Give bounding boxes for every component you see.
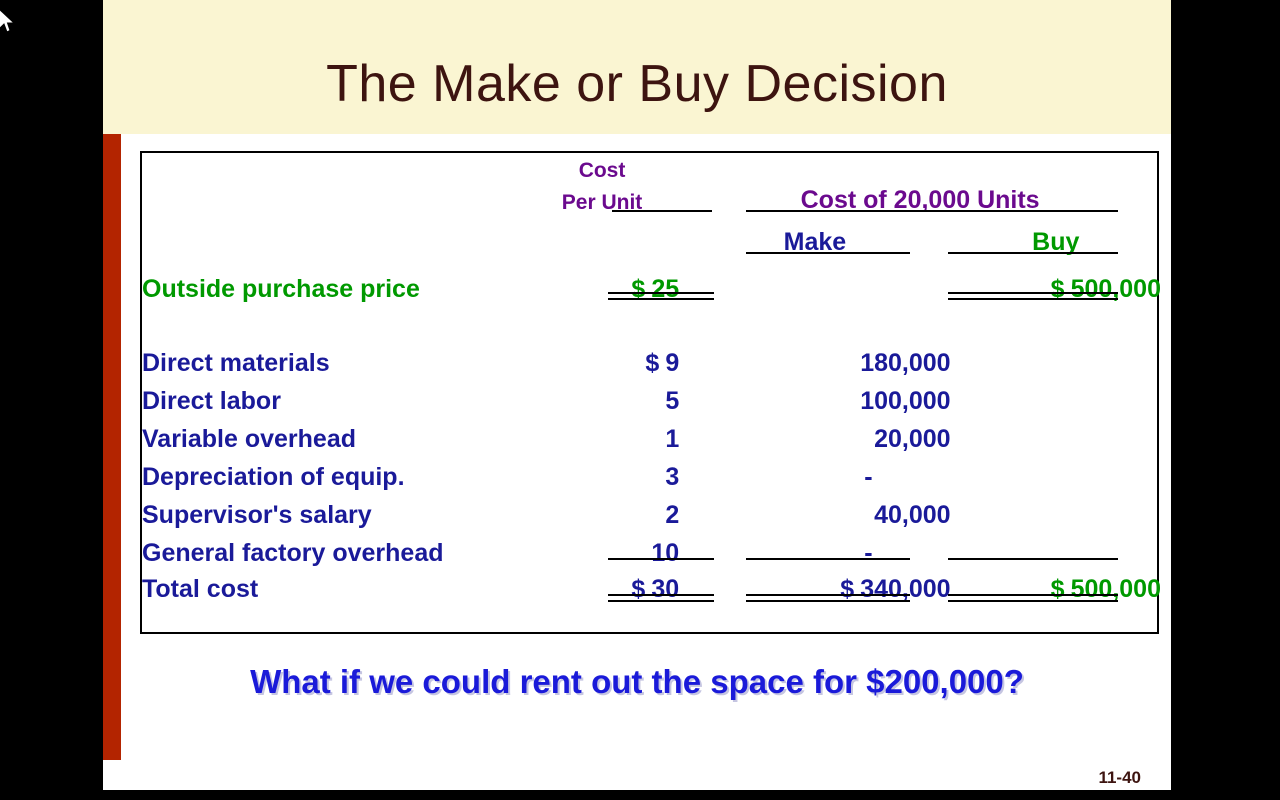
header-spacer-label xyxy=(142,153,525,183)
table-header-row-1: Cost xyxy=(142,153,1161,183)
per-unit-value: 5 xyxy=(665,387,679,415)
row-label: Variable overhead xyxy=(142,416,525,454)
question-text: What if we could rent out the space for … xyxy=(103,663,1171,701)
row-per-unit: 5 xyxy=(525,378,679,416)
rule-outside-purchase-buy xyxy=(948,292,1118,300)
per-unit-value: 10 xyxy=(651,539,679,567)
row-make: 40,000 xyxy=(679,492,950,530)
row-buy xyxy=(951,416,1161,454)
table-row: Direct labor 5 100,000 xyxy=(142,378,1161,416)
row-make: 180,000 xyxy=(679,340,950,378)
header-spacer-buy xyxy=(951,153,1161,183)
row-label: Outside purchase price xyxy=(142,257,525,304)
row-label: General factory overhead xyxy=(142,530,525,568)
rule-make-header xyxy=(746,252,910,254)
rule-cost-of-units-header xyxy=(746,210,1118,212)
spacer-cell xyxy=(951,304,1161,340)
screen-background: The Make or Buy Decision Cost xyxy=(0,0,1280,800)
table-spacer-row xyxy=(142,304,1161,340)
rule-total-top-make xyxy=(746,558,910,560)
row-label: Direct materials xyxy=(142,340,525,378)
header-spacer-label-3 xyxy=(142,215,525,257)
table-header-row-3: Make Buy xyxy=(142,215,1161,257)
rule-per-unit-header xyxy=(612,210,712,212)
row-make xyxy=(679,257,950,304)
row-buy xyxy=(951,340,1161,378)
per-unit-value: 9 xyxy=(665,349,679,377)
rule-buy-header xyxy=(948,252,1118,254)
per-unit-value: 1 xyxy=(665,425,679,453)
row-per-unit: $9 xyxy=(525,340,679,378)
rule-total-top-per-unit xyxy=(608,558,714,560)
rule-total-bottom-buy xyxy=(948,594,1118,602)
row-buy xyxy=(951,530,1161,568)
header-cost: Cost xyxy=(525,153,679,183)
header-spacer-make xyxy=(679,153,950,183)
rule-outside-purchase-per-unit xyxy=(608,292,714,300)
page-number: 11-40 xyxy=(1098,768,1141,788)
row-make: - xyxy=(679,454,950,492)
per-unit-value: 2 xyxy=(665,501,679,529)
slide-canvas: The Make or Buy Decision Cost xyxy=(103,0,1171,790)
cost-comparison-table: Cost Per Unit Cost of 20,000 Units xyxy=(140,151,1159,634)
row-buy xyxy=(951,492,1161,530)
table-row: General factory overhead 10 - xyxy=(142,530,1161,568)
row-per-unit: 2 xyxy=(525,492,679,530)
row-label: Supervisor's salary xyxy=(142,492,525,530)
row-label: Depreciation of equip. xyxy=(142,454,525,492)
row-label: Direct labor xyxy=(142,378,525,416)
spacer-cell xyxy=(679,304,950,340)
dollar-sign: $ xyxy=(645,349,665,378)
header-make: Make xyxy=(679,215,950,257)
spacer-cell xyxy=(142,304,525,340)
spacer-cell xyxy=(525,304,679,340)
row-buy xyxy=(951,378,1161,416)
header-spacer-unit-3 xyxy=(525,215,679,257)
table-row: Supervisor's salary 2 40,000 xyxy=(142,492,1161,530)
row-make: 100,000 xyxy=(679,378,950,416)
row-per-unit: 3 xyxy=(525,454,679,492)
row-make: 20,000 xyxy=(679,416,950,454)
header-spacer-label-2 xyxy=(142,183,525,215)
row-per-unit: 1 xyxy=(525,416,679,454)
rule-total-bottom-make xyxy=(746,594,910,602)
title-banner: The Make or Buy Decision xyxy=(103,0,1171,134)
mouse-pointer-icon xyxy=(0,8,17,36)
rule-total-top-buy xyxy=(948,558,1118,560)
row-label: Total cost xyxy=(142,568,525,604)
per-unit-value: 3 xyxy=(665,463,679,491)
table-grid: Cost Per Unit Cost of 20,000 Units xyxy=(142,153,1161,604)
table-row: Depreciation of equip. 3 - xyxy=(142,454,1161,492)
row-per-unit: 10 xyxy=(525,530,679,568)
rule-total-bottom-per-unit xyxy=(608,594,714,602)
header-buy: Buy xyxy=(951,215,1161,257)
page-title: The Make or Buy Decision xyxy=(103,54,1171,114)
table-row: Variable overhead 1 20,000 xyxy=(142,416,1161,454)
row-buy xyxy=(951,454,1161,492)
row-make: - xyxy=(679,530,950,568)
table-row: Direct materials $9 180,000 xyxy=(142,340,1161,378)
